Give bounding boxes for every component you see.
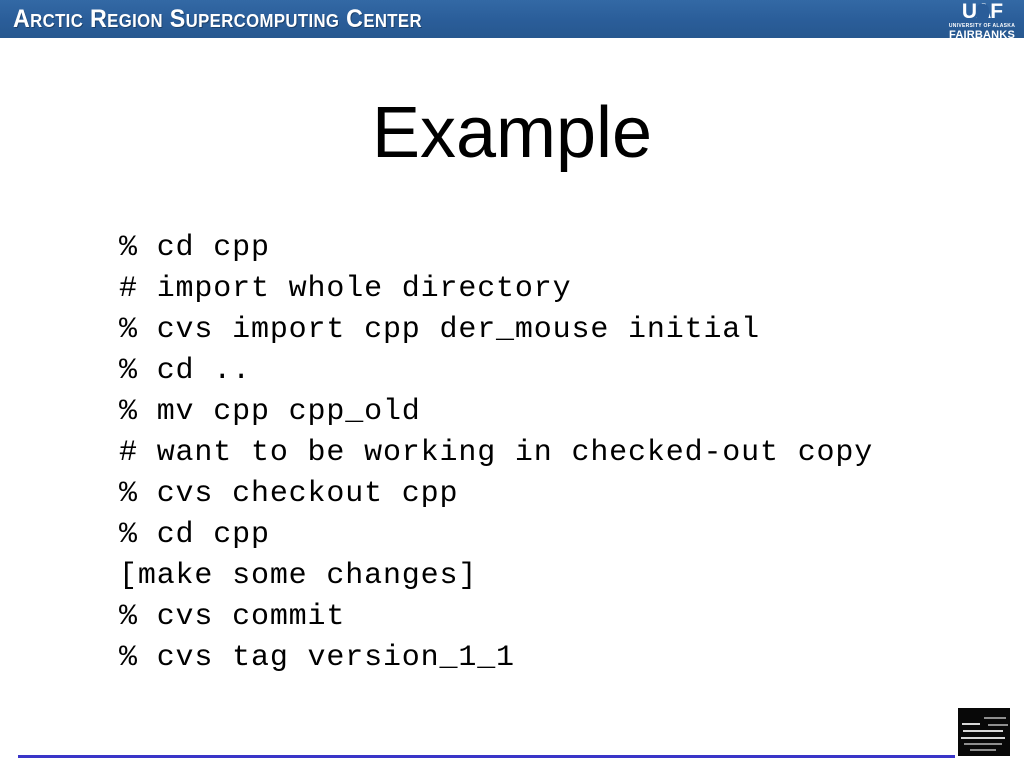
- code-line: % mv cpp cpp_old: [119, 392, 999, 433]
- uaf-logo: UAF UNIVERSITY OF ALASKA FAIRBANKS: [946, 1, 1018, 38]
- footer-thumbnail-image: [958, 708, 1010, 756]
- header-banner: Arctic Region Supercomputing Center UAF …: [0, 0, 1024, 38]
- code-line: % cd cpp: [119, 515, 999, 556]
- code-line: % cvs commit: [119, 597, 999, 638]
- code-line: # want to be working in checked-out copy: [119, 433, 999, 474]
- bear-silhouette-icon: [976, 4, 989, 20]
- code-line: [make some changes]: [119, 556, 999, 597]
- code-line: % cd ..: [119, 351, 999, 392]
- code-line: % cd cpp: [119, 228, 999, 269]
- uaf-logo-campus-text: FAIRBANKS: [946, 29, 1018, 38]
- code-line: % cvs tag version_1_1: [119, 638, 999, 679]
- slide-title: Example: [0, 93, 1024, 173]
- code-line: % cvs checkout cpp: [119, 474, 999, 515]
- code-block: % cd cpp # import whole directory % cvs …: [119, 228, 999, 679]
- code-line: % cvs import cpp der_mouse initial: [119, 310, 999, 351]
- code-line: # import whole directory: [119, 269, 999, 310]
- banner-title: Arctic Region Supercomputing Center: [13, 3, 422, 35]
- footer-divider: [18, 755, 955, 758]
